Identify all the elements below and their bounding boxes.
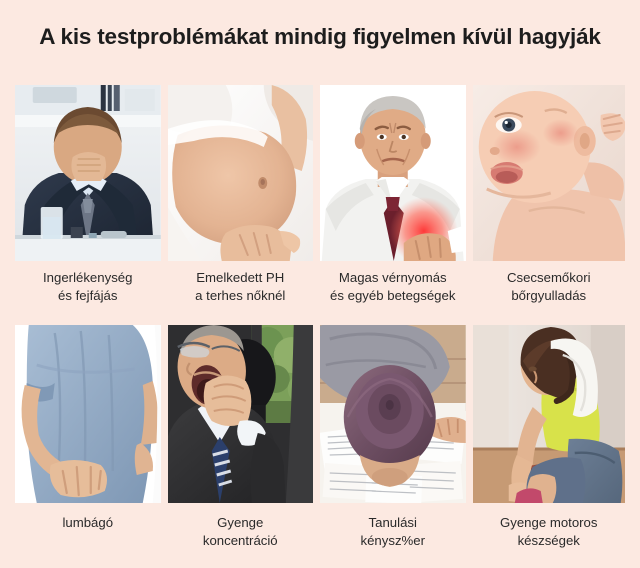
grid-cell-8: Gyenge motoros készségek <box>473 325 625 549</box>
grid-cell-1: Ingerlékenység és fejfájás <box>15 85 161 304</box>
photo-stressed-man-at-desk <box>15 85 161 261</box>
caption-8: Gyenge motoros készségek <box>473 503 625 549</box>
image-grid-row-1: Ingerlékenység és fejfájás <box>15 85 625 304</box>
caption-5: lumbágó <box>15 503 161 532</box>
grid-cell-6: Gyenge koncentráció <box>168 325 314 549</box>
infographic-page: A kis testproblémákat mindig figyelmen k… <box>0 0 640 568</box>
caption-3: Magas vérnyomás és egyéb betegségek <box>320 261 466 304</box>
grid-cell-4: Csecsemőkori bőrgyulladás <box>473 85 625 304</box>
caption-7: Tanulási kénysz%er <box>320 503 466 549</box>
caption-2: Emelkedett PH a terhes nőknél <box>168 261 314 304</box>
caption-6: Gyenge koncentráció <box>168 503 314 549</box>
page-title: A kis testproblémákat mindig figyelmen k… <box>0 24 640 50</box>
grid-cell-3: Magas vérnyomás és egyéb betegségek <box>320 85 466 304</box>
caption-4: Csecsemőkori bőrgyulladás <box>473 261 625 304</box>
caption-1: Ingerlékenység és fejfájás <box>15 261 161 304</box>
photo-student-head-down <box>320 325 466 503</box>
photo-man-chest-pain <box>320 85 466 261</box>
photo-woman-tying-shoe <box>473 325 625 503</box>
grid-cell-2: Emelkedett PH a terhes nőknél <box>168 85 314 304</box>
photo-baby-skin <box>473 85 625 261</box>
grid-cell-5: lumbágó <box>15 325 161 549</box>
grid-cell-7: Tanulási kénysz%er <box>320 325 466 549</box>
image-grid-row-2: lumbágó <box>15 325 625 549</box>
photo-lower-back-pain <box>15 325 161 503</box>
photo-pregnant-belly <box>168 85 314 261</box>
photo-yawning-driver <box>168 325 314 503</box>
